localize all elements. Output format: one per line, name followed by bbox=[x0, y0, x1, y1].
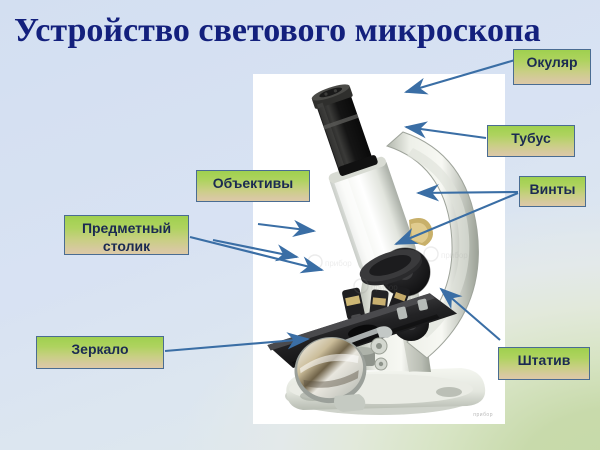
microscope-photo: прибор прибор прибор прибор bbox=[253, 74, 505, 424]
label-shtativ[interactable]: Штатив bbox=[498, 347, 590, 380]
label-zerkalo[interactable]: Зеркало bbox=[36, 336, 164, 369]
photo-watermark: прибор bbox=[473, 412, 493, 418]
label-vinty[interactable]: Винты bbox=[519, 176, 586, 207]
label-okulyar[interactable]: Окуляр bbox=[513, 49, 591, 85]
page-title: Устройство светового микроскопа bbox=[14, 11, 594, 51]
label-obyektivy[interactable]: Объективы bbox=[196, 170, 310, 202]
label-tubus[interactable]: Тубус bbox=[487, 125, 575, 157]
slide-canvas: Устройство светового микроскопа bbox=[0, 0, 600, 450]
label-predmetny-stolik[interactable]: Предметный столик bbox=[64, 215, 189, 255]
svg-text:прибор: прибор bbox=[325, 259, 352, 268]
svg-text:прибор: прибор bbox=[371, 283, 398, 292]
svg-text:прибор: прибор bbox=[441, 251, 468, 260]
